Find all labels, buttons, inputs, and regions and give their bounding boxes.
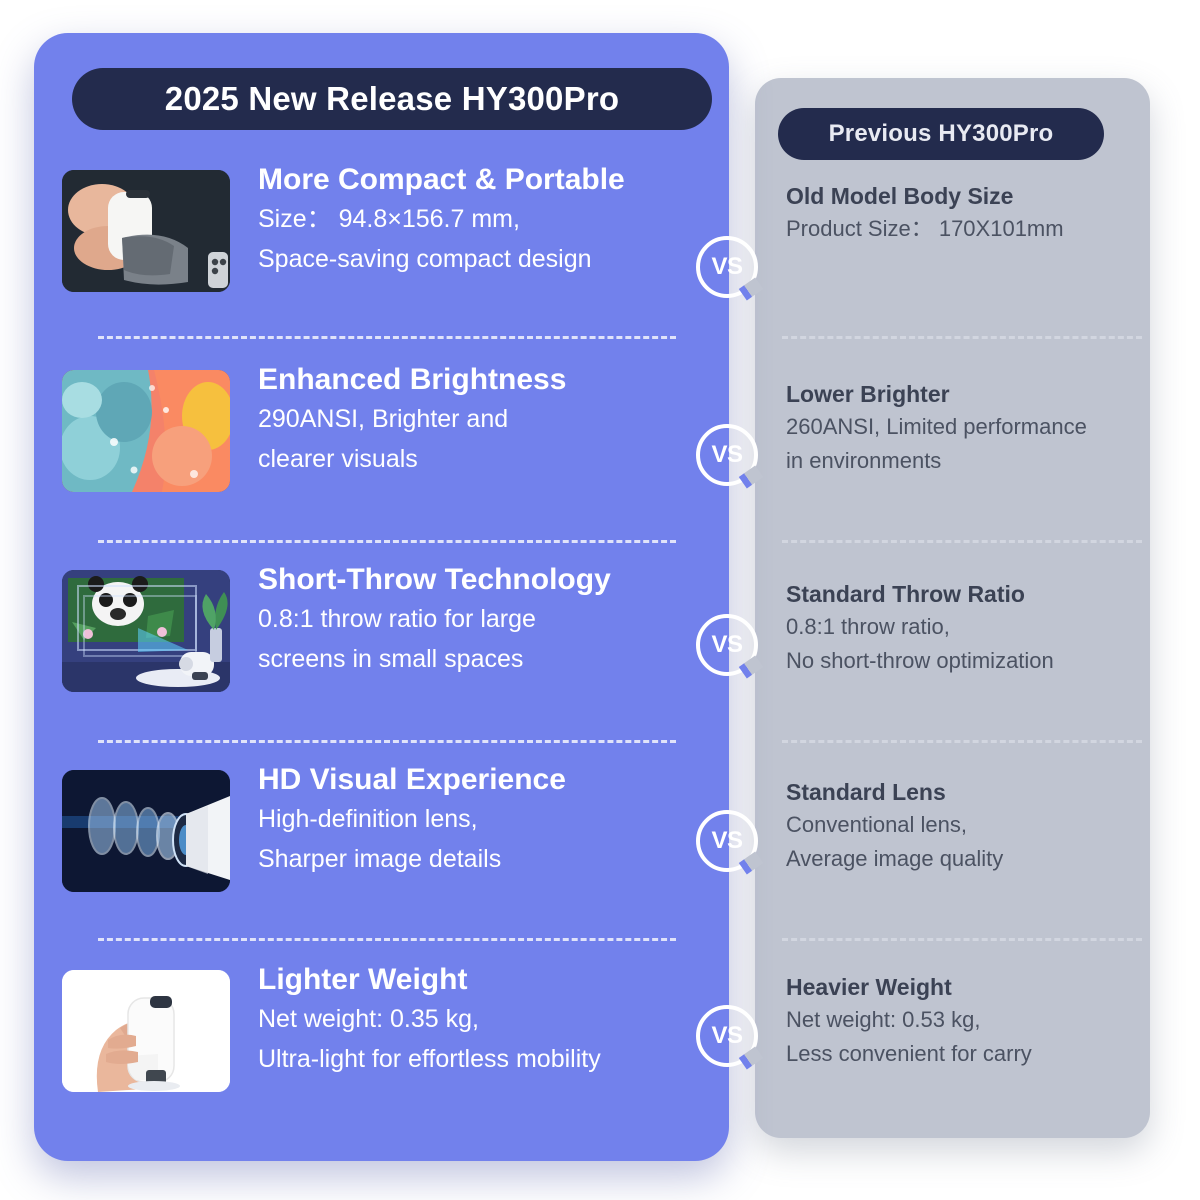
- new-row-text: More Compact & Portable Size： 94.8×156.7…: [258, 162, 625, 280]
- projector-panda-wall-projection-photo: [62, 570, 230, 692]
- new-row-brightness: Enhanced Brightness 290ANSI, Brighter an…: [62, 362, 702, 532]
- old-row-title: Old Model Body Size: [786, 182, 1136, 212]
- new-release-title-pill: 2025 New Release HY300Pro: [72, 68, 712, 130]
- old-row-line: Net weight: 0.53 kg,: [786, 1003, 1136, 1037]
- new-row-text: Short-Throw Technology 0.8:1 throw ratio…: [258, 562, 611, 680]
- old-row-title: Standard Throw Ratio: [786, 580, 1136, 610]
- new-row-title: Enhanced Brightness: [258, 362, 566, 399]
- new-row-lighter-weight: Lighter Weight Net weight: 0.35 kg, Ultr…: [62, 962, 702, 1132]
- new-row-line: clearer visuals: [258, 439, 566, 480]
- old-row-line: 0.8:1 throw ratio,: [786, 610, 1136, 644]
- old-row-line: 260ANSI, Limited performance: [786, 410, 1136, 444]
- exploded-lens-elements-photo: [62, 770, 230, 892]
- new-row-line: screens in small spaces: [258, 639, 611, 680]
- old-row-line: Conventional lens,: [786, 808, 1136, 842]
- vs-label: VS: [711, 441, 742, 469]
- new-row-line: High-definition lens,: [258, 799, 566, 840]
- new-row-compact: More Compact & Portable Size： 94.8×156.7…: [62, 162, 702, 332]
- old-row-line: in environments: [786, 444, 1136, 478]
- vs-badge: VS: [696, 424, 758, 486]
- old-row-title: Heavier Weight: [786, 973, 1136, 1003]
- comparison-infographic: Previous HY300Pro Old Model Body Size Pr…: [0, 0, 1200, 1200]
- previous-model-title: Previous HY300Pro: [829, 120, 1054, 148]
- old-row-lens: Standard Lens Conventional lens, Average…: [786, 778, 1136, 877]
- old-row-body-size: Old Model Body Size Product Size： 170X10…: [786, 182, 1136, 246]
- old-row-title: Standard Lens: [786, 778, 1136, 808]
- new-row-line: Sharper image details: [258, 839, 566, 880]
- new-row-hd-lens: HD Visual Experience High-definition len…: [62, 762, 702, 932]
- old-row-line: Product Size： 170X101mm: [786, 212, 1136, 246]
- old-row-line: Less convenient for carry: [786, 1037, 1136, 1071]
- vs-label: VS: [711, 253, 742, 281]
- new-row-line: Net weight: 0.35 kg,: [258, 999, 601, 1040]
- new-row-title: Short-Throw Technology: [258, 562, 611, 599]
- new-row-line: 0.8:1 throw ratio for large: [258, 599, 611, 640]
- new-row-text: Enhanced Brightness 290ANSI, Brighter an…: [258, 362, 566, 480]
- hand-holding-projector-photo: [62, 970, 230, 1092]
- projector-in-backpack-photo: [62, 170, 230, 292]
- new-divider: [98, 540, 676, 543]
- new-row-line: Ultra-light for effortless mobility: [258, 1039, 601, 1080]
- vs-label: VS: [711, 1022, 742, 1050]
- new-row-line: 290ANSI, Brighter and: [258, 399, 566, 440]
- vs-badge: VS: [696, 1005, 758, 1067]
- old-divider: [782, 336, 1142, 339]
- new-row-title: More Compact & Portable: [258, 162, 625, 199]
- new-row-line: Space-saving compact design: [258, 239, 625, 280]
- old-row-brightness: Lower Brighter 260ANSI, Limited performa…: [786, 380, 1136, 479]
- vs-badge: VS: [696, 810, 758, 872]
- old-row-line: Average image quality: [786, 842, 1136, 876]
- new-divider: [98, 740, 676, 743]
- new-row-title: HD Visual Experience: [258, 762, 566, 799]
- old-row-throw-ratio: Standard Throw Ratio 0.8:1 throw ratio, …: [786, 580, 1136, 679]
- new-divider: [98, 336, 676, 339]
- old-divider: [782, 540, 1142, 543]
- old-divider: [782, 740, 1142, 743]
- vs-label: VS: [711, 827, 742, 855]
- glossy-colorful-flowers-photo: [62, 370, 230, 492]
- old-row-line: No short-throw optimization: [786, 644, 1136, 678]
- old-row-weight: Heavier Weight Net weight: 0.53 kg, Less…: [786, 973, 1136, 1072]
- vs-label: VS: [711, 631, 742, 659]
- new-row-line: Size： 94.8×156.7 mm,: [258, 199, 625, 240]
- new-release-title: 2025 New Release HY300Pro: [165, 80, 619, 118]
- new-row-text: HD Visual Experience High-definition len…: [258, 762, 566, 880]
- new-row-text: Lighter Weight Net weight: 0.35 kg, Ultr…: [258, 962, 601, 1080]
- old-divider: [782, 938, 1142, 941]
- new-row-title: Lighter Weight: [258, 962, 601, 999]
- previous-model-title-pill: Previous HY300Pro: [778, 108, 1104, 160]
- new-divider: [98, 938, 676, 941]
- new-row-short-throw: Short-Throw Technology 0.8:1 throw ratio…: [62, 562, 702, 732]
- old-row-title: Lower Brighter: [786, 380, 1136, 410]
- vs-badge: VS: [696, 614, 758, 676]
- vs-badge: VS: [696, 236, 758, 298]
